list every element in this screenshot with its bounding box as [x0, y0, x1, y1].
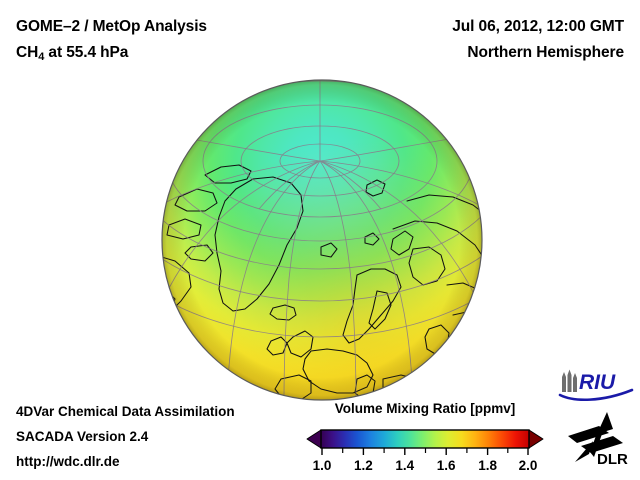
colorbar-tick-label-5: 2.0	[519, 458, 538, 473]
colorbar-tick-label-1: 1.2	[354, 458, 373, 473]
analysis-title: GOME–2 / MetOp Analysis	[16, 18, 207, 36]
species-pressure-label: CH4 at 55.4 hPa	[16, 44, 128, 63]
globe-limb-shading	[162, 80, 482, 400]
coast-middle-east	[423, 391, 479, 401]
colorbar-scale: 1.0 1.2 1.4 1.6 1.8 2.0	[306, 420, 544, 475]
url-label[interactable]: http://wdc.dlr.de	[16, 454, 120, 469]
dlr-wordmark: DLR	[597, 451, 628, 468]
colorbar-minor-ticks	[343, 448, 508, 453]
version-label: SACADA Version 2.4	[16, 429, 148, 444]
colorbar-over-cap	[529, 430, 543, 448]
colorbar-tick-label-4: 1.8	[478, 458, 497, 473]
colorbar-under-cap	[307, 430, 321, 448]
orthographic-projection	[161, 79, 483, 401]
globe-map	[161, 79, 483, 401]
colorbar-gradient	[321, 430, 529, 448]
species-name: CH	[16, 44, 38, 61]
riu-logo: RIU	[558, 368, 634, 404]
figure-canvas: GOME–2 / MetOp Analysis CH4 at 55.4 hPa …	[0, 0, 640, 480]
colorbar-tick-label-2: 1.4	[395, 458, 414, 473]
colorbar-title: Volume Mixing Ratio [ppmv]	[306, 401, 544, 416]
pressure-level: at 55.4 hPa	[44, 44, 128, 61]
riu-wordmark: RIU	[579, 371, 616, 394]
riu-tower-icon	[562, 370, 577, 393]
coast-newfoundland	[161, 341, 183, 373]
method-label: 4DVar Chemical Data Assimilation	[16, 404, 235, 419]
colorbar-tick-label-3: 1.6	[437, 458, 456, 473]
timestamp-label: Jul 06, 2012, 12:00 GMT	[452, 18, 624, 36]
region-label: Northern Hemisphere	[467, 44, 624, 62]
colorbar: Volume Mixing Ratio [ppmv]	[306, 401, 544, 475]
dlr-logo: DLR	[563, 410, 635, 468]
colorbar-tick-label-0: 1.0	[313, 458, 332, 473]
